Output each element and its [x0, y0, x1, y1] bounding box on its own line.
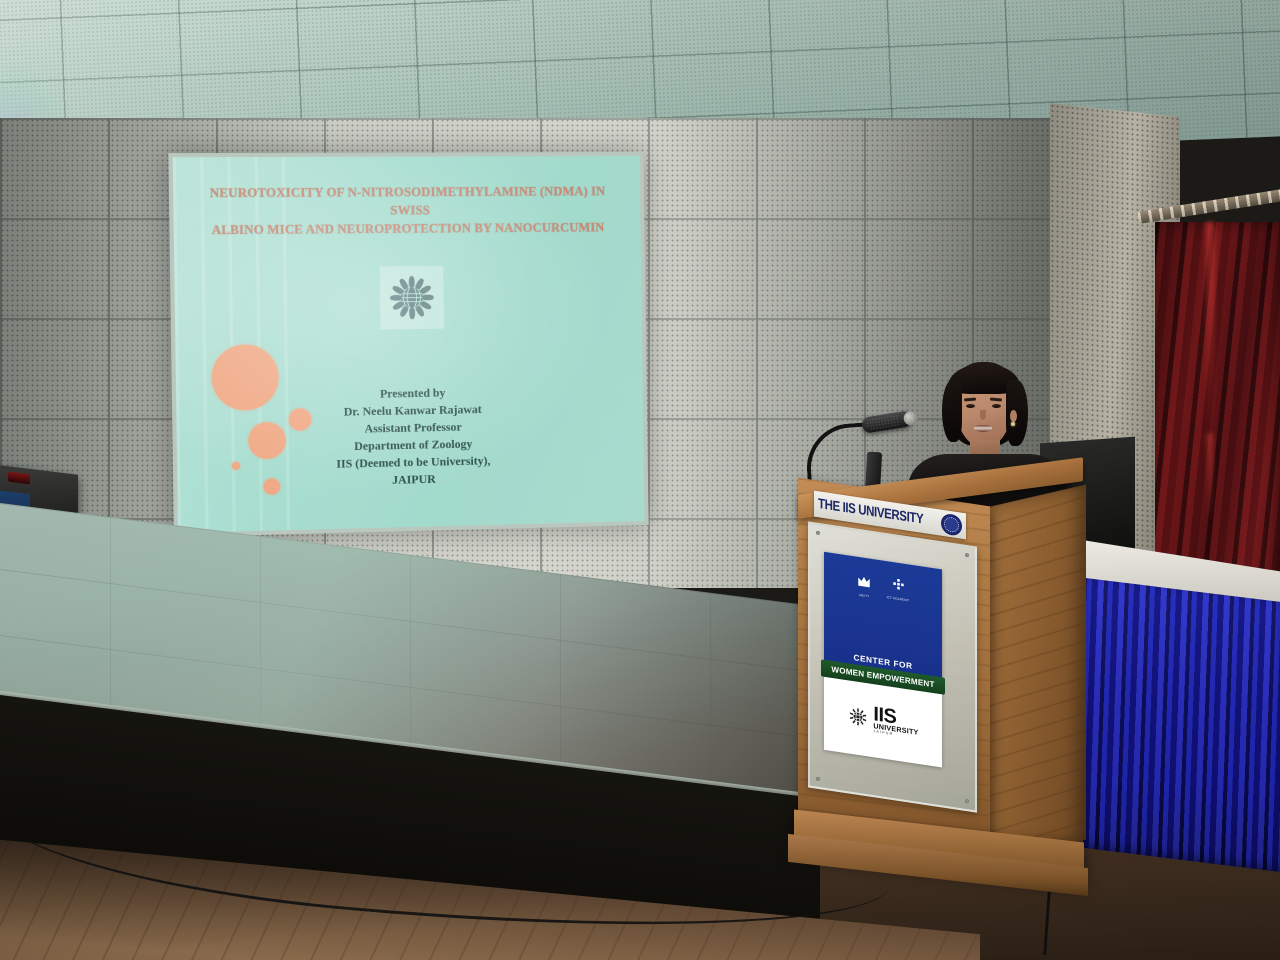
curtain-highlight-lower [1207, 433, 1213, 521]
iis-logo-icon [847, 705, 869, 730]
poster-logo-ictacademy-caption: ICT ACADEMY [887, 595, 910, 602]
presenter-mouth [974, 425, 992, 432]
presenter-eye-right [992, 404, 1001, 408]
poster-blue-section: MEITY [824, 552, 942, 684]
meity-icon [856, 573, 872, 593]
iis-globe-people-emblem-icon [379, 266, 443, 330]
podium-screw-bl [816, 777, 820, 782]
poster-logo-ictacademy: ICT ACADEMY [886, 577, 910, 603]
projection-screen: NEUROTOXICITY OF N-NITROSODIMETHYLAMINE … [168, 152, 648, 537]
blue-skirted-table [1083, 578, 1280, 873]
podium-screw-tr [965, 553, 969, 558]
podium: THE IIS UNIVERSITY [790, 476, 1090, 906]
slide-presenter-block: Presented by Dr. Neelu Kanwar Rajawat As… [176, 382, 644, 494]
slide-title: NEUROTOXICITY OF N-NITROSODIMETHYLAMINE … [197, 183, 618, 240]
women-empowerment-poster: MEITY [824, 552, 942, 768]
iis-wordmark: IIS UNIVERSITY JAIPUR [873, 706, 918, 740]
presenter-ear [1010, 410, 1017, 422]
slide-title-line-2: ALBINO MICE AND NEUROPROTECTION BY NANOC… [198, 220, 618, 241]
microphone-mesh [865, 414, 900, 431]
slide-title-line-1: NEUROTOXICITY OF N-NITROSODIMETHYLAMINE … [197, 183, 618, 222]
podium-glass-panel: MEITY [808, 521, 977, 812]
presenter-nose [980, 410, 986, 420]
poster-logo-meity: MEITY [856, 573, 872, 599]
podium-side-woodgrain [986, 484, 1086, 862]
presenter-hair-left [942, 380, 962, 442]
poster-sponsor-logos: MEITY [856, 573, 910, 605]
ict-academy-icon [892, 578, 905, 596]
curtain-highlight [1206, 222, 1215, 433]
podium-screw-tl [816, 531, 820, 536]
podium-side-panel [986, 484, 1086, 862]
presentation-slide: NEUROTOXICITY OF N-NITROSODIMETHYLAMINE … [173, 156, 645, 533]
poster-logo-meity-caption: MEITY [859, 593, 869, 598]
conference-hall-photo: NEUROTOXICITY OF N-NITROSODIMETHYLAMINE … [0, 0, 1280, 960]
presenter-eye-left [966, 404, 975, 408]
podium-screw-br [965, 799, 969, 804]
presenter-earring [1011, 422, 1015, 426]
iis-university-seal-icon [941, 512, 962, 536]
